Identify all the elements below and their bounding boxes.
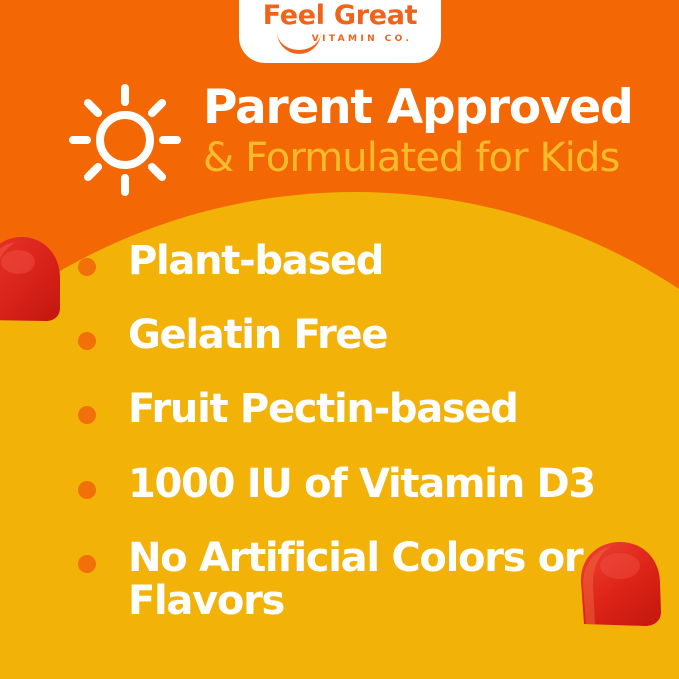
brand-tagline: VITAMIN CO. (239, 34, 441, 44)
list-item: Plant-based (78, 240, 638, 283)
headline-title: Parent Approved (203, 83, 673, 134)
benefits-list: Plant-based Gelatin Free Fruit Pectin-ba… (78, 240, 638, 654)
benefit-label: 1000 IU of Vitamin D3 (128, 463, 638, 506)
headline-subtitle: & Formulated for Kids (203, 136, 673, 181)
bullet-dot-icon (78, 258, 96, 276)
headline-block: Parent Approved & Formulated for Kids (203, 83, 673, 181)
bullet-dot-icon (78, 555, 96, 573)
list-item: Fruit Pectin-based (78, 388, 638, 431)
bullet-dot-icon (78, 481, 96, 499)
list-item: 1000 IU of Vitamin D3 (78, 463, 638, 506)
promo-banner: Feel Great VITAMIN CO. Parent Approved &… (0, 0, 679, 679)
list-item: No Artificial Colors or Flavors (78, 537, 638, 623)
brand-logo-card: Feel Great VITAMIN CO. (239, 0, 441, 63)
bullet-dot-icon (78, 332, 96, 350)
benefit-label: Plant-based (128, 240, 638, 283)
sun-icon (66, 82, 184, 198)
red-gummy-icon-left (0, 234, 64, 324)
benefit-label: No Artificial Colors or Flavors (128, 537, 638, 623)
benefit-label: Fruit Pectin-based (128, 388, 638, 431)
bullet-dot-icon (78, 406, 96, 424)
benefit-label: Gelatin Free (128, 314, 638, 357)
brand-wordmark: Feel Great (239, 2, 441, 29)
red-gummy-icon-right (572, 536, 669, 634)
list-item: Gelatin Free (78, 314, 638, 357)
smile-swoosh-icon (277, 32, 321, 54)
